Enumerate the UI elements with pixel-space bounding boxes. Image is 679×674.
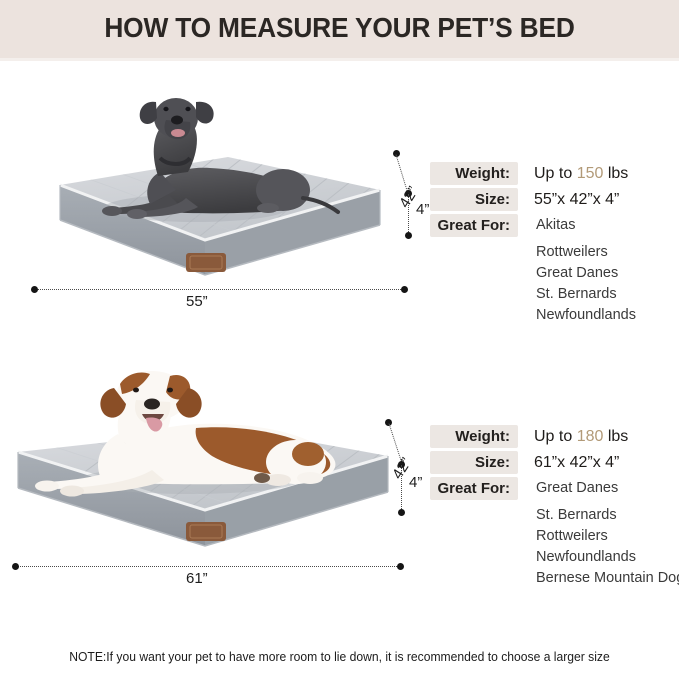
brand-logo-patch [186, 522, 226, 541]
size-section-large: 42” 4” 55” Weight: Up to 150 lbs Size: 5… [0, 62, 679, 317]
breed-item: St. Bernards [536, 284, 670, 305]
size-section-xl: 42” 4” 61” Weight: Up to 180 lbs Size: 6… [0, 370, 679, 605]
dim-dot-width-end-large [401, 286, 408, 293]
bed-svg-large [0, 62, 400, 297]
spec-value-weight: Up to 180 lbs [534, 425, 628, 448]
weight-number: 180 [577, 428, 604, 445]
spec-panel-large: Weight: Up to 150 lbs Size: 55”x 42”x 4”… [430, 162, 670, 326]
spec-value-weight: Up to 150 lbs [534, 162, 628, 185]
dim-line-height-xl [401, 465, 402, 513]
spec-label-size: Size: [430, 188, 518, 211]
spec-value-size: 55”x 42”x 4” [534, 188, 619, 211]
spec-value-size: 61”x 42”x 4” [534, 451, 619, 474]
spec-row-great-for: Great For: Akitas [430, 214, 670, 237]
weight-number: 150 [577, 165, 604, 182]
page-title: HOW TO MEASURE YOUR PET’S BED [20, 12, 658, 44]
spec-label-size: Size: [430, 451, 518, 474]
breed-item: Rottweilers [536, 526, 679, 547]
dim-dot-height-end-large [405, 232, 412, 239]
dim-dot-width-start-large [31, 286, 38, 293]
dim-label-height-xl: 4” [409, 474, 422, 491]
breed-item: Rottweilers [536, 242, 670, 263]
weight-suffix: lbs [603, 165, 628, 182]
weight-prefix: Up to [534, 165, 577, 182]
breed-item: Bernese Mountain Dogs [536, 568, 679, 589]
bed-illustration-xl [0, 370, 400, 595]
breed-list-xl: St. Bernards Rottweilers Newfoundlands B… [536, 503, 679, 589]
brand-logo-patch [186, 253, 226, 272]
breed-item: Akitas [536, 214, 576, 237]
footer-note: NOTE:If you want your pet to have more r… [10, 650, 669, 664]
breed-item: Newfoundlands [536, 305, 670, 326]
spec-label-great-for: Great For: [430, 477, 518, 500]
dim-label-height-large: 4” [416, 201, 429, 218]
spec-row-weight: Weight: Up to 180 lbs [430, 425, 679, 448]
breed-item: St. Bernards [536, 505, 679, 526]
spec-label-weight: Weight: [430, 425, 518, 448]
spec-row-weight: Weight: Up to 150 lbs [430, 162, 670, 185]
spec-label-great-for: Great For: [430, 214, 518, 237]
dim-dot-width-start-xl [12, 563, 19, 570]
dim-label-width-large: 55” [186, 293, 208, 310]
breed-item: Newfoundlands [536, 547, 679, 568]
dim-dot-width-end-xl [397, 563, 404, 570]
bed-svg-xl [0, 370, 400, 595]
weight-prefix: Up to [534, 428, 577, 445]
weight-suffix: lbs [603, 428, 628, 445]
breed-list-large: Rottweilers Great Danes St. Bernards New… [536, 240, 670, 326]
dim-line-width-large [35, 289, 405, 290]
dim-line-height-large [408, 194, 409, 236]
spec-label-weight: Weight: [430, 162, 518, 185]
breed-item: Great Danes [536, 477, 618, 500]
breed-item: Great Danes [536, 263, 670, 284]
dim-dot-height-end-xl [398, 509, 405, 516]
dim-label-width-xl: 61” [186, 570, 208, 587]
spec-row-size: Size: 55”x 42”x 4” [430, 188, 670, 211]
spec-row-size: Size: 61”x 42”x 4” [430, 451, 679, 474]
spec-row-great-for: Great For: Great Danes [430, 477, 679, 500]
bed-illustration-large [0, 62, 400, 297]
spec-panel-xl: Weight: Up to 180 lbs Size: 61”x 42”x 4”… [430, 425, 679, 589]
header-divider [0, 58, 679, 61]
dim-line-width-xl [16, 566, 401, 567]
